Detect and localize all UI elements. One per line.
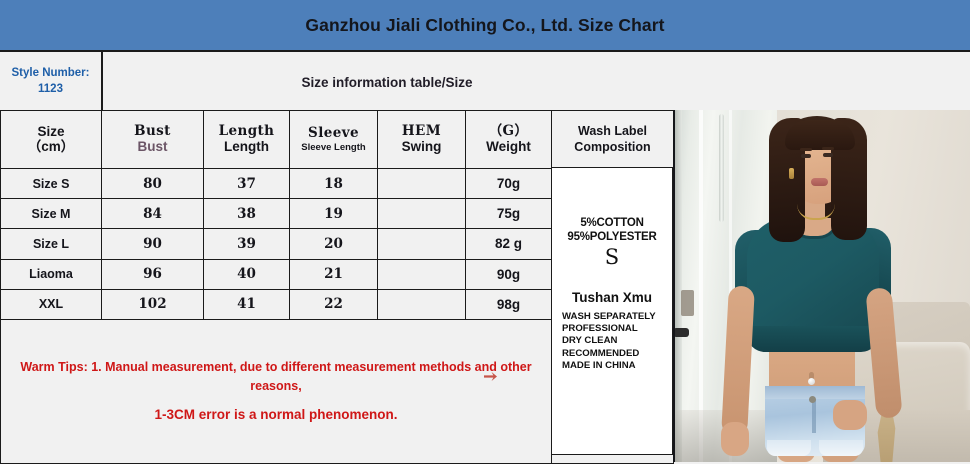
cell-length: 37 xyxy=(204,169,290,199)
cell-weight: 90g xyxy=(466,259,552,289)
cell-length: 41 xyxy=(204,289,290,319)
header-hem-line1: HEM xyxy=(378,124,465,140)
header-cell-wash-label: Wash Label Composition xyxy=(552,111,674,169)
product-photo xyxy=(673,110,970,462)
header-hem-line2: Swing xyxy=(378,139,465,155)
cell-hem xyxy=(378,169,466,199)
header-cell-length: Length Length xyxy=(204,111,290,169)
cell-weight: 70g xyxy=(466,169,552,199)
cell-weight: 98g xyxy=(466,289,552,319)
cell-length: 39 xyxy=(204,229,290,259)
header-size-line1: Size xyxy=(1,124,101,140)
cell-bust: 84 xyxy=(102,199,204,229)
cell-sleeve: 22 xyxy=(290,289,378,319)
header-cell-size: Size （cm） xyxy=(1,111,102,169)
cell-size: Size L xyxy=(1,229,102,259)
cell-hem xyxy=(378,259,466,289)
cell-weight: 82 g xyxy=(466,229,552,259)
wash-fiber-line2: 95%POLYESTER xyxy=(567,230,656,244)
wash-brand-name: Tushan Xmu xyxy=(572,290,652,305)
photo-border xyxy=(673,110,970,462)
cell-length: 40 xyxy=(204,259,290,289)
header-weight-line1: （G） xyxy=(466,124,551,140)
style-number-label: Style Number: xyxy=(12,66,90,82)
cell-size: Size S xyxy=(1,169,102,199)
header-cell-bust: Bust Bust xyxy=(102,111,204,169)
size-chart-sheet: Ganzhou Jiali Clothing Co., Ltd. Size Ch… xyxy=(0,0,970,462)
wash-care-instructions: WASH SEPARATELY PROFESSIONAL DRY CLEAN R… xyxy=(562,311,656,372)
style-number-cell: Style Number: 1123 xyxy=(0,52,103,112)
cell-sleeve: 18 xyxy=(290,169,378,199)
wash-label-card: 5%COTTON 95%POLYESTER S Tushan Xmu WASH … xyxy=(551,167,673,455)
header-wash-line2: Composition xyxy=(552,140,673,156)
header-cell-weight: （G） Weight xyxy=(466,111,552,169)
cell-bust: 102 xyxy=(102,289,204,319)
cell-sleeve: 21 xyxy=(290,259,378,289)
cell-sleeve: 19 xyxy=(290,199,378,229)
cell-size: Size M xyxy=(1,199,102,229)
header-bust-line1: Bust xyxy=(102,124,203,140)
warm-tips-line1: Warm Tips: 1. Manual measurement, due to… xyxy=(20,360,531,393)
header-weight-line2: Weight xyxy=(466,139,551,155)
size-information-title: Size information table/Size xyxy=(101,52,673,112)
warm-tips-cell: Warm Tips: 1. Manual measurement, due to… xyxy=(1,319,552,463)
cell-length: 38 xyxy=(204,199,290,229)
style-number-value: 1123 xyxy=(38,82,63,98)
style-info-band: Style Number: 1123 Size information tabl… xyxy=(0,50,970,112)
wash-size-letter: S xyxy=(605,247,619,268)
title-banner: Ganzhou Jiali Clothing Co., Ltd. Size Ch… xyxy=(0,0,970,50)
warm-tips-text: Warm Tips: 1. Manual measurement, due to… xyxy=(15,358,537,425)
header-size-line2: （cm） xyxy=(1,139,101,155)
cell-hem xyxy=(378,199,466,229)
warm-tips-line2: 1-3CM error is a normal phenomenon. xyxy=(15,405,537,425)
header-bust-line2: Bust xyxy=(102,139,203,155)
cell-size: XXL xyxy=(1,289,102,319)
cell-bust: 80 xyxy=(102,169,204,199)
header-length-line1: Length xyxy=(204,124,289,140)
header-sleeve-line2: Sleeve Length xyxy=(290,142,377,153)
cell-weight: 75g xyxy=(466,199,552,229)
page-title: Ganzhou Jiali Clothing Co., Ltd. Size Ch… xyxy=(305,15,664,36)
wash-fiber-line1: 5%COTTON xyxy=(580,216,643,230)
cell-sleeve: 20 xyxy=(290,229,378,259)
cell-bust: 96 xyxy=(102,259,204,289)
header-length-line2: Length xyxy=(204,139,289,155)
header-wash-line1: Wash Label xyxy=(552,124,673,140)
table-header-row: Size （cm） Bust Bust Length Length Sleeve… xyxy=(1,111,674,169)
cell-hem xyxy=(378,229,466,259)
header-cell-hem: HEM Swing xyxy=(378,111,466,169)
cell-hem xyxy=(378,289,466,319)
header-sleeve-line1: Sleeve xyxy=(290,126,377,142)
cell-size: Liaoma xyxy=(1,259,102,289)
cell-bust: 90 xyxy=(102,229,204,259)
header-cell-sleeve: Sleeve Sleeve Length xyxy=(290,111,378,169)
